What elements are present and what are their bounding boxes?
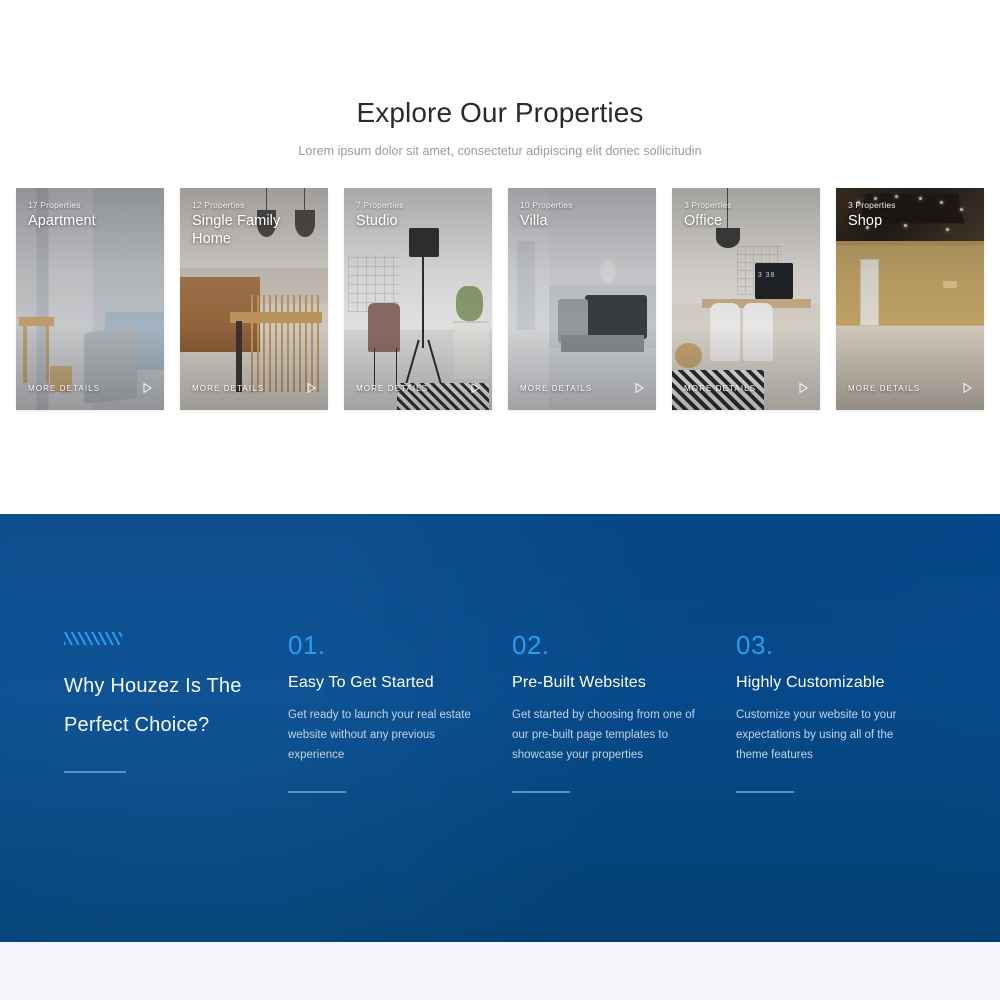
play-triangle-icon[interactable]: [141, 382, 153, 394]
feature-column-02: 02. Pre-Built Websites Get started by ch…: [512, 632, 736, 793]
property-card-shop[interactable]: 3 Properties Shop MORE DETAILS: [836, 188, 984, 410]
property-count: 17 Properties: [28, 200, 154, 210]
more-details-label: MORE DETAILS: [356, 384, 428, 393]
why-columns-container: Why Houzez Is The Perfect Choice? 01. Ea…: [64, 632, 936, 793]
page-bottom-strip: [0, 942, 1000, 1000]
card-heading-group: 3 Properties Shop: [848, 200, 974, 231]
card-footer[interactable]: MORE DETAILS: [848, 382, 973, 394]
card-heading-group: 10 Properties Villa: [520, 200, 646, 231]
feature-body: Get ready to launch your real estate web…: [288, 706, 474, 765]
property-type-name: Apartment: [28, 213, 154, 231]
property-type-name: Single Family Home: [192, 213, 318, 248]
play-triangle-icon[interactable]: [797, 382, 809, 394]
property-type-name: Shop: [848, 213, 974, 231]
property-type-name: Office: [684, 213, 810, 231]
why-houzez-section: Why Houzez Is The Perfect Choice? 01. Ea…: [0, 514, 1000, 942]
why-lead-column: Why Houzez Is The Perfect Choice?: [64, 632, 288, 793]
property-count: 7 Properties: [356, 200, 482, 210]
property-cards-row: 17 Properties Apartment MORE DETAILS 12 …: [16, 188, 984, 414]
explore-properties-section: Explore Our Properties Lorem ipsum dolor…: [0, 0, 1000, 514]
card-heading-group: 12 Properties Single Family Home: [192, 200, 318, 248]
why-heading: Why Houzez Is The Perfect Choice?: [64, 667, 288, 745]
property-count: 3 Properties: [848, 200, 974, 210]
property-card-villa[interactable]: 10 Properties Villa MORE DETAILS: [508, 188, 656, 410]
feature-divider: [512, 791, 570, 793]
feature-column-01: 01. Easy To Get Started Get ready to lau…: [288, 632, 512, 793]
play-triangle-icon[interactable]: [633, 382, 645, 394]
property-type-name: Studio: [356, 213, 482, 231]
card-heading-group: 3 Properties Office: [684, 200, 810, 231]
feature-divider: [736, 791, 794, 793]
more-details-label: MORE DETAILS: [848, 384, 920, 393]
feature-number: 03.: [736, 632, 960, 658]
property-count: 10 Properties: [520, 200, 646, 210]
feature-body: Get started by choosing from one of our …: [512, 706, 698, 765]
property-count: 12 Properties: [192, 200, 318, 210]
card-footer[interactable]: MORE DETAILS: [356, 382, 481, 394]
card-footer[interactable]: MORE DETAILS: [520, 382, 645, 394]
card-heading-group: 7 Properties Studio: [356, 200, 482, 231]
property-card-apartment[interactable]: 17 Properties Apartment MORE DETAILS: [16, 188, 164, 410]
section-header: Explore Our Properties Lorem ipsum dolor…: [0, 0, 1000, 158]
card-footer[interactable]: MORE DETAILS: [684, 382, 809, 394]
property-type-name: Villa: [520, 213, 646, 231]
property-card-office[interactable]: 3 38 3 Properties Office MORE DETAILS: [672, 188, 820, 410]
more-details-label: MORE DETAILS: [192, 384, 264, 393]
feature-body: Customize your website to your expectati…: [736, 706, 922, 765]
more-details-label: MORE DETAILS: [520, 384, 592, 393]
more-details-label: MORE DETAILS: [28, 384, 100, 393]
feature-title: Easy To Get Started: [288, 674, 512, 692]
property-card-single-family-home[interactable]: 12 Properties Single Family Home MORE DE…: [180, 188, 328, 410]
hatch-decoration-icon: [64, 632, 122, 645]
lead-divider: [64, 771, 126, 773]
play-triangle-icon[interactable]: [305, 382, 317, 394]
feature-number: 02.: [512, 632, 736, 658]
feature-title: Pre-Built Websites: [512, 674, 736, 692]
card-footer[interactable]: MORE DETAILS: [28, 382, 153, 394]
play-triangle-icon[interactable]: [961, 382, 973, 394]
feature-title: Highly Customizable: [736, 674, 960, 692]
card-heading-group: 17 Properties Apartment: [28, 200, 154, 231]
property-count: 3 Properties: [684, 200, 810, 210]
feature-column-03: 03. Highly Customizable Customize your w…: [736, 632, 960, 793]
section-subtitle: Lorem ipsum dolor sit amet, consectetur …: [0, 144, 1000, 158]
feature-divider: [288, 791, 346, 793]
more-details-label: MORE DETAILS: [684, 384, 756, 393]
property-card-studio[interactable]: 7 Properties Studio MORE DETAILS: [344, 188, 492, 410]
card-footer[interactable]: MORE DETAILS: [192, 382, 317, 394]
page-title: Explore Our Properties: [0, 96, 1000, 130]
play-triangle-icon[interactable]: [469, 382, 481, 394]
feature-number: 01.: [288, 632, 512, 658]
